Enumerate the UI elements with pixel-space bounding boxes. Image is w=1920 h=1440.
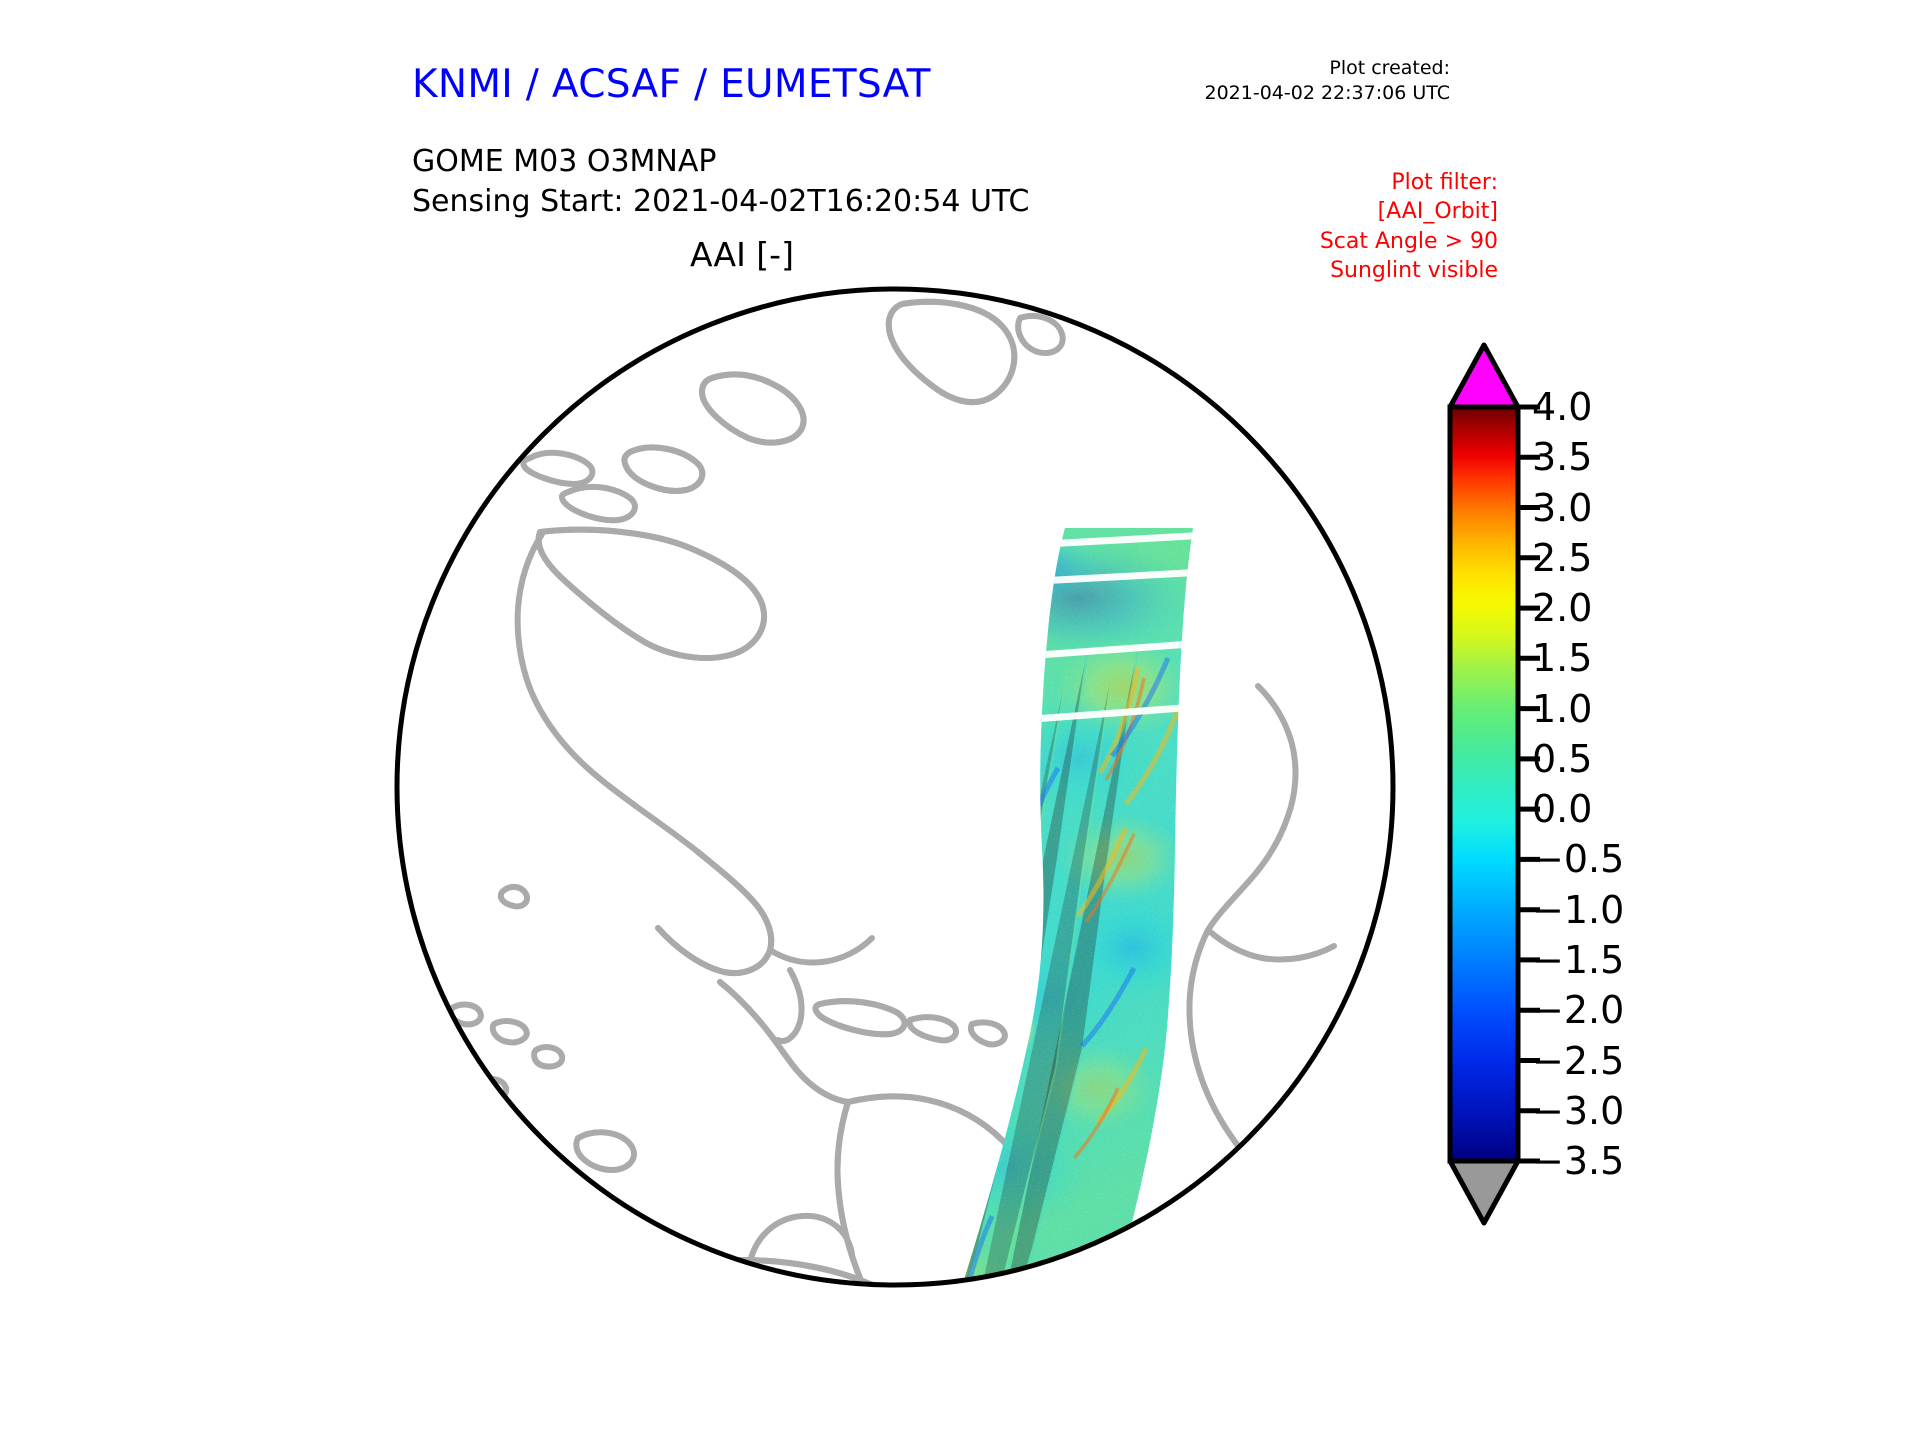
colorbar-tick-label: −3.0 [1532,1089,1624,1133]
product-info-block: GOME M03 O3MNAP Sensing Start: 2021-04-0… [412,142,1029,222]
plot-filter-label: Plot filter: [1320,168,1498,197]
globe-svg [390,282,1400,1292]
sensing-start: Sensing Start: 2021-04-02T16:20:54 UTC [412,182,1029,222]
colorbar[interactable]: 4.0 3.5 3.0 2.5 2.0 1.5 1.0 0.5 0.0 −0.5… [1436,285,1766,1335]
colorbar-tick-label: 0.5 [1532,737,1592,781]
colorbar-tick-label: 1.0 [1532,687,1592,731]
colorbar-tick-label: 3.0 [1532,486,1592,530]
page-title: AAI [-] [412,235,1072,274]
colorbar-tick-label: −1.0 [1532,888,1624,932]
plot-filter-scat-angle: Scat Angle > 90 [1320,227,1498,256]
colorbar-tick-label: −1.5 [1532,938,1624,982]
organisation-title: KNMI / ACSAF / EUMETSAT [412,62,931,107]
globe-map[interactable] [390,282,1400,1292]
plot-created-block: Plot created: 2021-04-02 22:37:06 UTC [1205,56,1451,106]
colorbar-tick-label: −0.5 [1532,837,1624,881]
product-name: GOME M03 O3MNAP [412,142,1029,182]
plot-created-timestamp: 2021-04-02 22:37:06 UTC [1205,81,1451,106]
colorbar-tick-label: −2.5 [1532,1039,1624,1083]
colorbar-tick-label: 2.5 [1532,536,1592,580]
colorbar-over-arrow [1450,345,1518,407]
plot-filter-orbit: [AAI_Orbit] [1320,197,1498,226]
colorbar-under-arrow [1450,1161,1518,1223]
colorbar-tick-label: 0.0 [1532,787,1592,831]
colorbar-tick-label: 4.0 [1532,385,1592,429]
plot-created-label: Plot created: [1205,56,1451,81]
colorbar-gradient [1450,407,1518,1161]
colorbar-tick-label: 2.0 [1532,586,1592,630]
colorbar-tick-label: 3.5 [1532,435,1592,479]
colorbar-tick-label: −2.0 [1532,988,1624,1032]
globe-disc [397,289,1393,1285]
colorbar-tick-label: −3.5 [1532,1139,1624,1183]
colorbar-tick-label: 1.5 [1532,636,1592,680]
plot-filter-block: Plot filter: [AAI_Orbit] Scat Angle > 90… [1320,168,1498,286]
